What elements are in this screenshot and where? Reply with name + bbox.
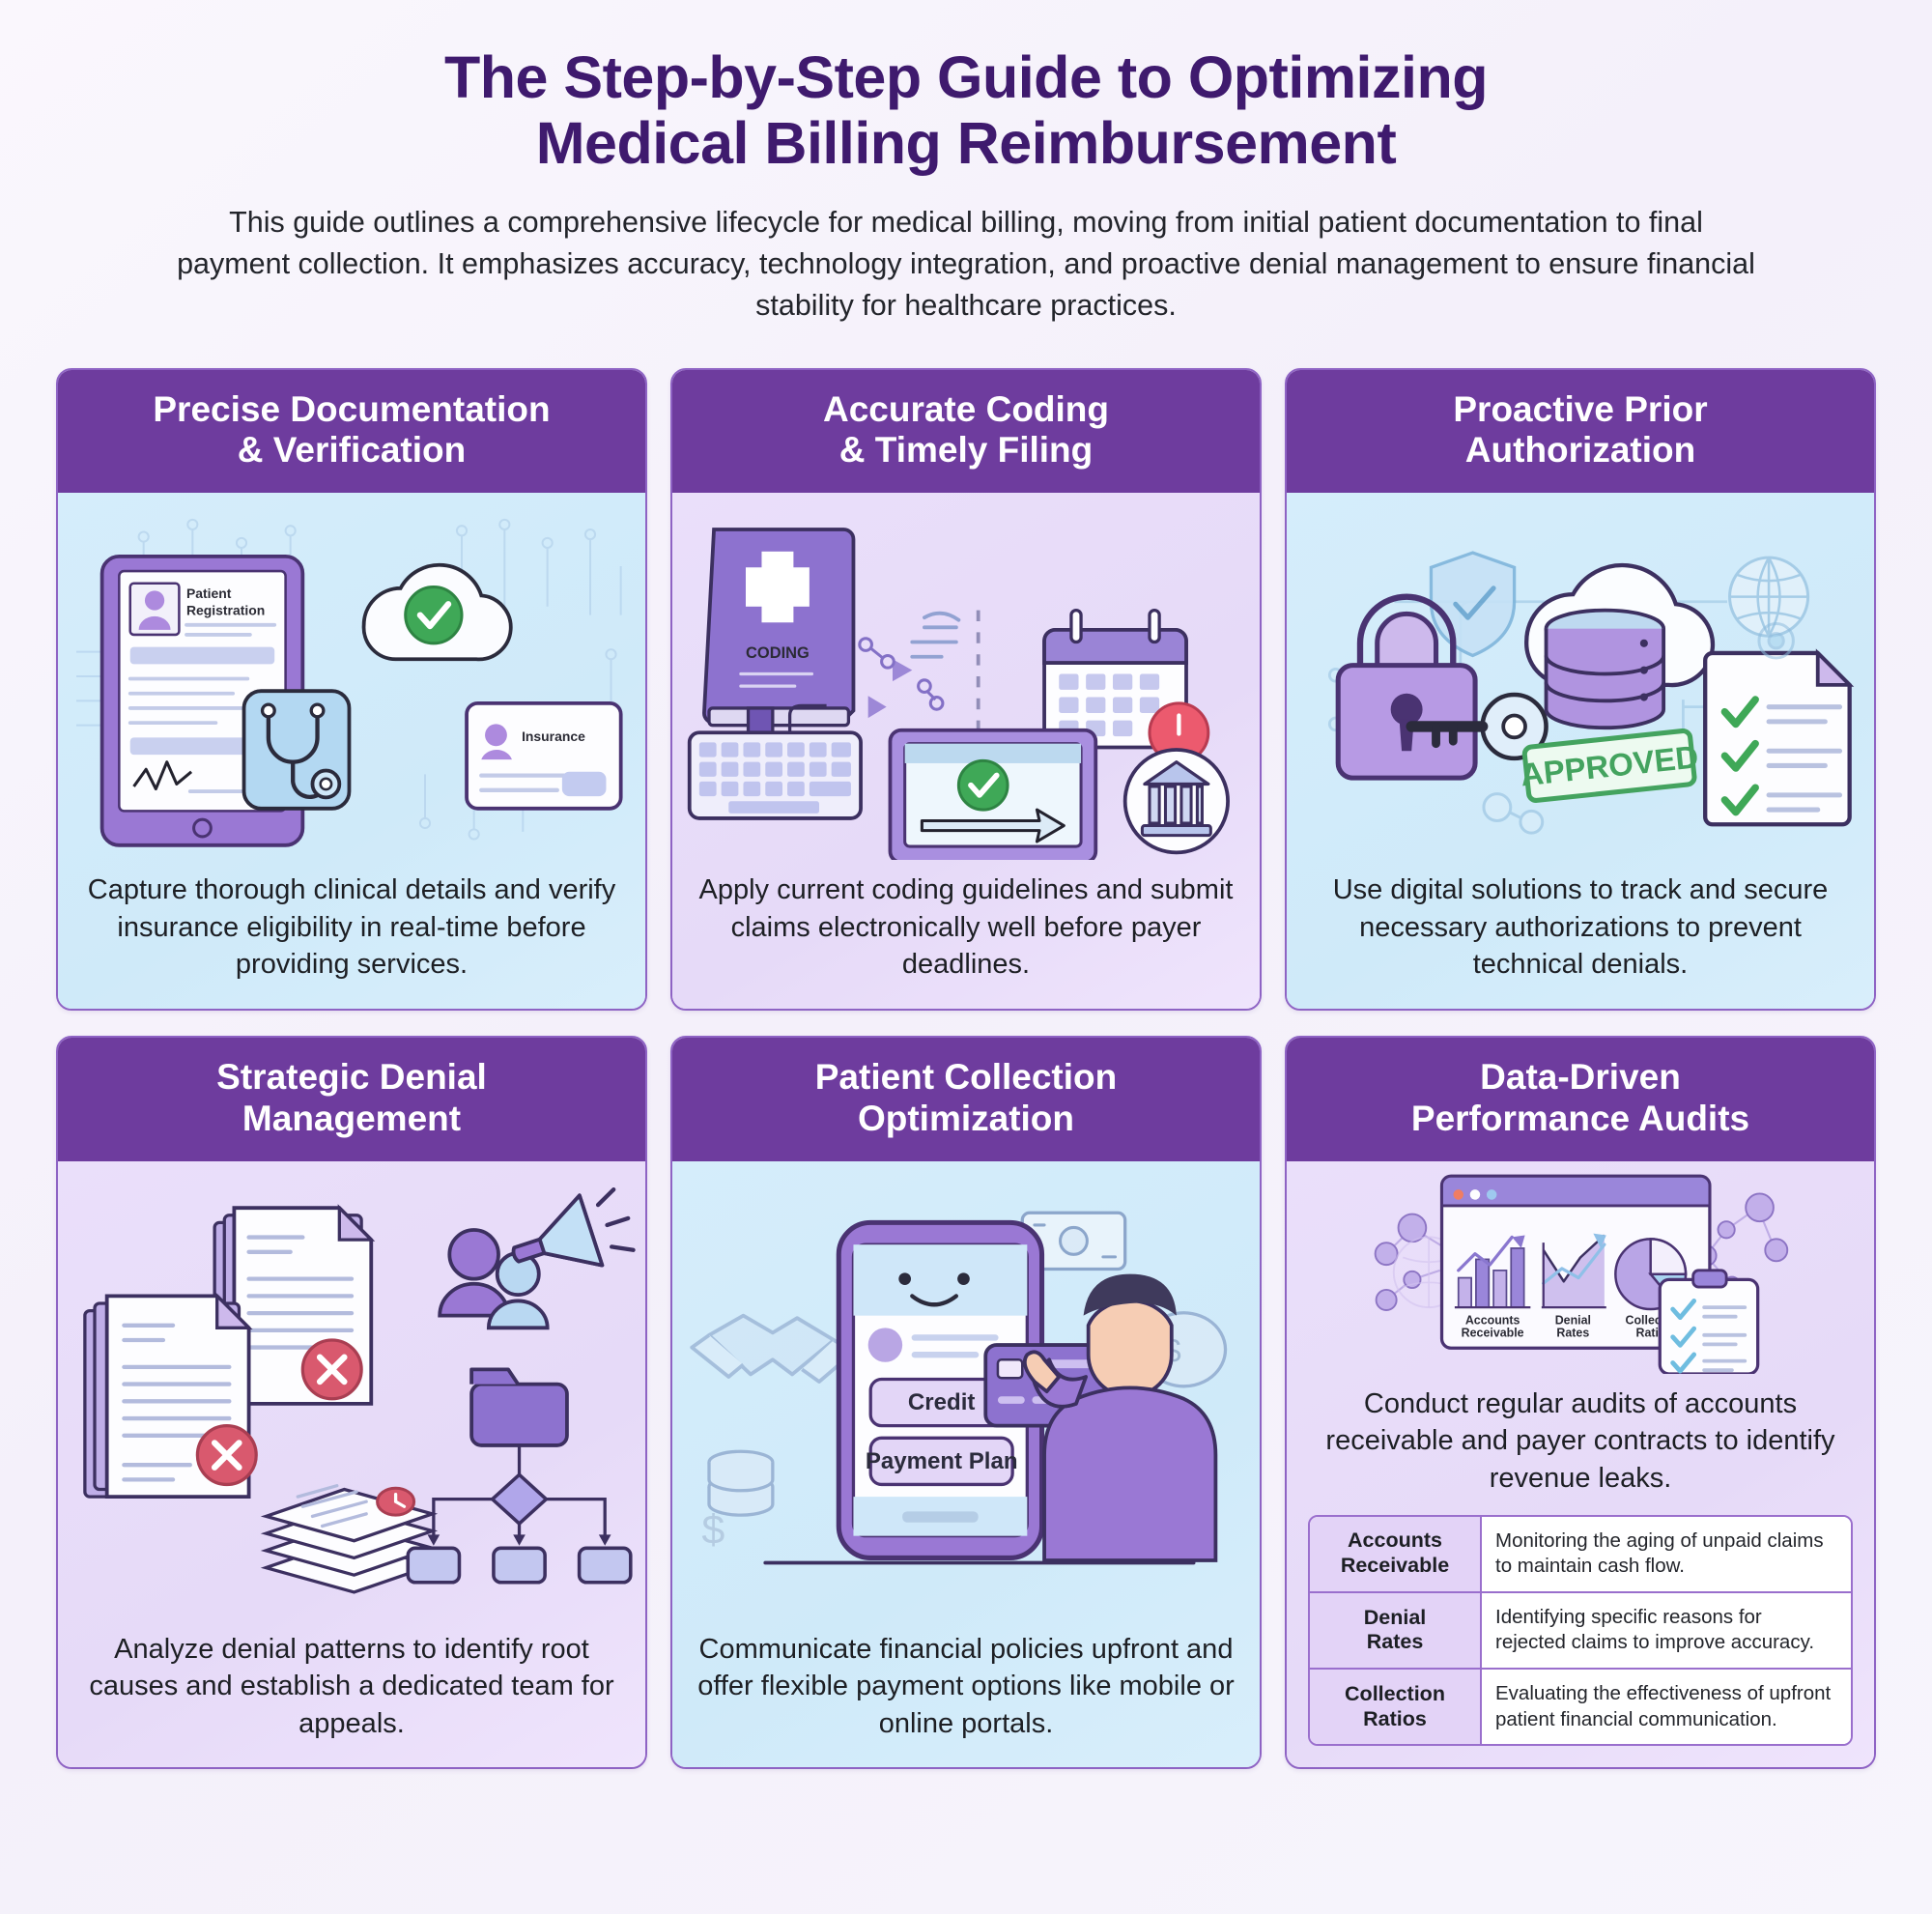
card-precise-documentation-verification[interactable]: Precise Documentation & Verification [56, 368, 647, 1012]
card-2-illustration: CODING [672, 493, 1260, 860]
line-chart-label-line-1: Denial [1555, 1313, 1591, 1327]
card-2-title-line-2: & Timely Filing [839, 430, 1093, 470]
card-4-body: Analyze denial patterns to identify root… [58, 1161, 645, 1768]
card-5-illustration: $ $ [672, 1161, 1260, 1619]
card-3-title-line-2: Authorization [1465, 430, 1695, 470]
page-title: The Step-by-Step Guide to Optimizing Med… [56, 44, 1876, 177]
coding-book-label: CODING [746, 644, 810, 662]
metrics-table: Accounts Receivable Monitoring the aging… [1308, 1515, 1853, 1747]
card-proactive-prior-authorization[interactable]: Proactive Prior Authorization [1285, 368, 1876, 1012]
card-6-title-line-2: Performance Audits [1411, 1099, 1749, 1138]
card-2-body: CODING [672, 493, 1260, 1009]
card-strategic-denial-management[interactable]: Strategic Denial Management [56, 1036, 647, 1769]
coins-icon: $ [701, 1451, 772, 1553]
monitor-icon [890, 730, 1095, 860]
shield-check-icon [1431, 553, 1514, 655]
tablet-label-line-1: Patient [186, 586, 232, 601]
card-6-illustration: Accounts Receivable Denial [1287, 1161, 1874, 1374]
card-1-title-line-2: & Verification [238, 430, 466, 470]
card-3-body: APPROVED [1287, 493, 1874, 1009]
card-1-illustration: Patient Registration [58, 493, 645, 860]
card-4-title-line-1: Strategic Denial [216, 1057, 487, 1097]
metric-key-line-2: Receivable [1341, 1554, 1449, 1577]
payment-plan-button-label: Payment Plan [866, 1448, 1018, 1474]
tablet-label-line-2: Registration [186, 603, 265, 618]
checklist-document-icon [1705, 653, 1849, 824]
stethoscope-icon [244, 692, 350, 810]
card-data-driven-performance-audits[interactable]: Data-Driven Performance Audits [1285, 1036, 1876, 1769]
team-megaphone-icon [440, 1184, 639, 1328]
insurance-card-label: Insurance [522, 728, 585, 744]
metric-value-collection-ratios: Evaluating the effectiveness of upfront … [1482, 1670, 1851, 1744]
card-4-header: Strategic Denial Management [58, 1038, 645, 1161]
card-5-header: Patient Collection Optimization [672, 1038, 1260, 1161]
line-chart-label-line-2: Rates [1556, 1327, 1589, 1340]
denied-documents-icon [85, 1208, 371, 1497]
metric-key-line-1: Accounts [1348, 1528, 1442, 1552]
page-title-line-1: The Step-by-Step Guide to Optimizing [444, 44, 1488, 110]
card-4-blurb: Analyze denial patterns to identify root… [58, 1619, 645, 1768]
card-1-blurb: Capture thorough clinical details and ve… [58, 860, 645, 1009]
header: The Step-by-Step Guide to Optimizing Med… [56, 37, 1876, 347]
card-5-blurb: Communicate financial policies upfront a… [672, 1619, 1260, 1768]
card-6-title-line-1: Data-Driven [1480, 1057, 1681, 1097]
card-3-header: Proactive Prior Authorization [1287, 370, 1874, 494]
page-title-line-2: Medical Billing Reimbursement [536, 110, 1397, 176]
card-6-body: Accounts Receivable Denial [1287, 1161, 1874, 1768]
card-3-blurb: Use digital solutions to track and secur… [1287, 860, 1874, 1009]
card-3-title-line-1: Proactive Prior [1453, 389, 1707, 429]
metric-value-denial-rates: Identifying specific reasons for rejecte… [1482, 1593, 1851, 1668]
table-row: Collection Ratios Evaluating the effecti… [1310, 1670, 1851, 1744]
credit-button-label: Credit [908, 1389, 975, 1415]
card-6-blurb: Conduct regular audits of accounts recei… [1287, 1374, 1874, 1511]
metric-value-accounts-receivable: Monitoring the aging of unpaid claims to… [1482, 1517, 1851, 1591]
card-5-body: $ $ [672, 1161, 1260, 1768]
svg-text:$: $ [701, 1506, 724, 1553]
metric-key-line-2: Ratios [1363, 1707, 1427, 1730]
card-4-illustration [58, 1161, 645, 1619]
bar-chart-label-line-2: Receivable [1462, 1327, 1524, 1340]
card-accurate-coding-timely-filing[interactable]: Accurate Coding & Timely Filing CODING [670, 368, 1262, 1012]
table-row: Denial Rates Identifying specific reason… [1310, 1593, 1851, 1670]
coding-book-icon: CODING [704, 529, 854, 750]
card-4-title-line-2: Management [242, 1099, 461, 1138]
card-2-blurb: Apply current coding guidelines and subm… [672, 860, 1260, 1009]
metric-key-line-1: Denial [1364, 1606, 1427, 1629]
metric-key-denial-rates: Denial Rates [1310, 1593, 1482, 1668]
page-subtitle: This guide outlines a comprehensive life… [174, 202, 1758, 328]
table-row: Accounts Receivable Monitoring the aging… [1310, 1517, 1851, 1593]
card-2-title-line-1: Accurate Coding [823, 389, 1109, 429]
workflow-diagram-icon [408, 1369, 631, 1582]
metric-key-line-1: Collection [1345, 1682, 1445, 1705]
card-1-header: Precise Documentation & Verification [58, 370, 645, 494]
card-5-title-line-1: Patient Collection [815, 1057, 1117, 1097]
cloud-database-icon [1526, 565, 1713, 728]
metric-key-accounts-receivable: Accounts Receivable [1310, 1517, 1482, 1591]
card-1-title-line-1: Precise Documentation [153, 389, 550, 429]
metric-key-line-2: Rates [1367, 1630, 1424, 1653]
clipboard-checklist-icon [1660, 1271, 1757, 1374]
cloud-check-icon [364, 565, 511, 660]
handshake-icon [692, 1315, 853, 1381]
card-6-header: Data-Driven Performance Audits [1287, 1038, 1874, 1161]
insurance-card-icon: Insurance [467, 703, 621, 809]
bank-icon [1125, 750, 1228, 852]
cards-grid: Precise Documentation & Verification [56, 368, 1876, 1770]
card-5-title-line-2: Optimization [858, 1099, 1074, 1138]
card-1-body: Patient Registration [58, 493, 645, 1009]
infographic-page: The Step-by-Step Guide to Optimizing Med… [0, 0, 1932, 1914]
card-3-illustration: APPROVED [1287, 493, 1874, 860]
card-2-header: Accurate Coding & Timely Filing [672, 370, 1260, 494]
metric-key-collection-ratios: Collection Ratios [1310, 1670, 1482, 1744]
card-patient-collection-optimization[interactable]: Patient Collection Optimization [670, 1036, 1262, 1769]
approved-stamp-icon: APPROVED [1518, 729, 1701, 802]
bar-chart-label-line-1: Accounts [1465, 1313, 1520, 1327]
